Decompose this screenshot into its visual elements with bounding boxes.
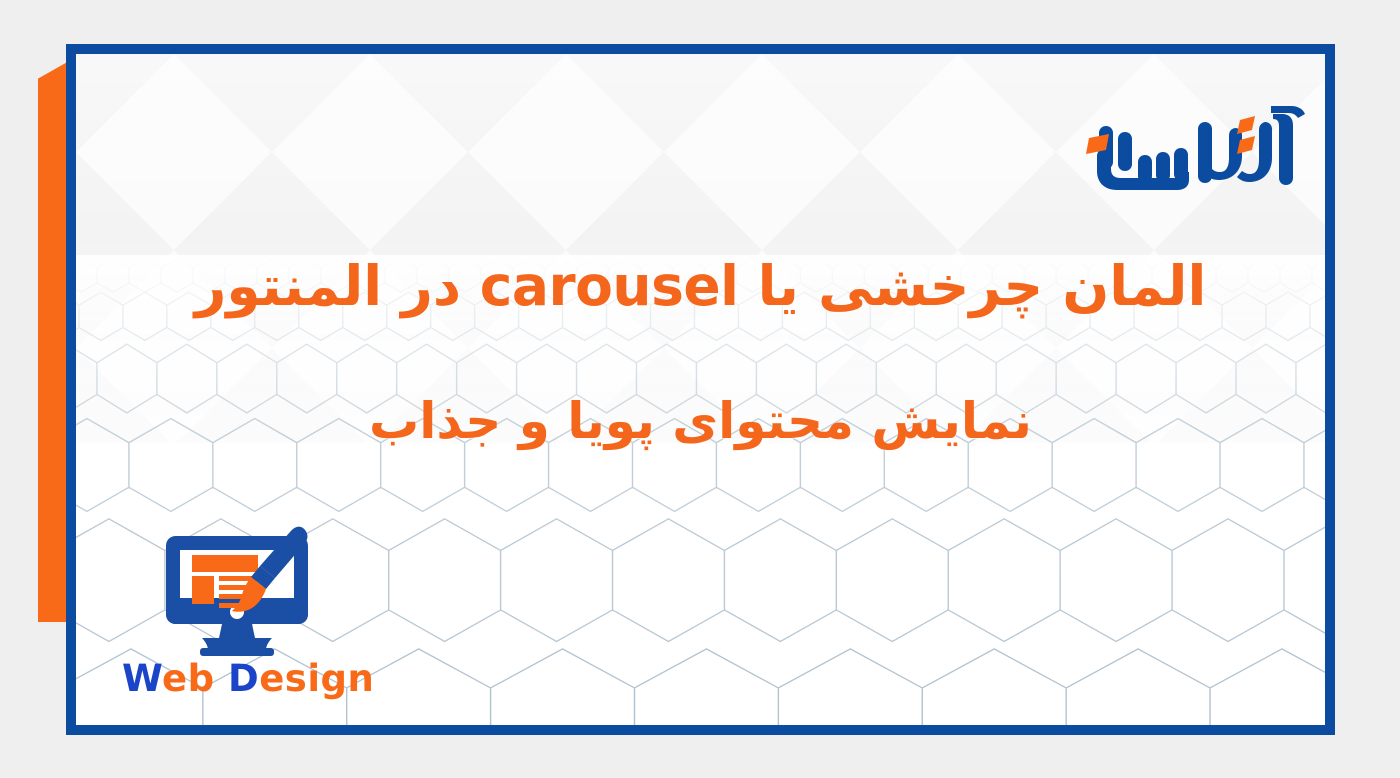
banner-background: المان چرخشی یا carousel در المنتور نمایش… [76,54,1325,725]
headline-line-secondary: نمایش محتوای پویا و جذاب [112,388,1289,455]
headline-block: المان چرخشی یا carousel در المنتور نمایش… [76,250,1325,455]
banner-stage: المان چرخشی یا carousel در المنتور نمایش… [0,0,1400,778]
caption-d: D [215,657,260,700]
web-design-badge: Web Design [122,526,352,697]
banner-card-frame: المان چرخشی یا carousel در المنتور نمایش… [66,44,1335,735]
arzarasaneh-logo [1059,92,1307,204]
caption-esign: esign [259,657,374,700]
caption-w: W [122,657,162,700]
caption-eb: eb [162,657,215,700]
web-design-monitor-brush-icon [162,526,312,658]
headline-line-primary: المان چرخشی یا carousel در المنتور [112,250,1289,324]
web-design-caption: Web Design [122,660,352,697]
